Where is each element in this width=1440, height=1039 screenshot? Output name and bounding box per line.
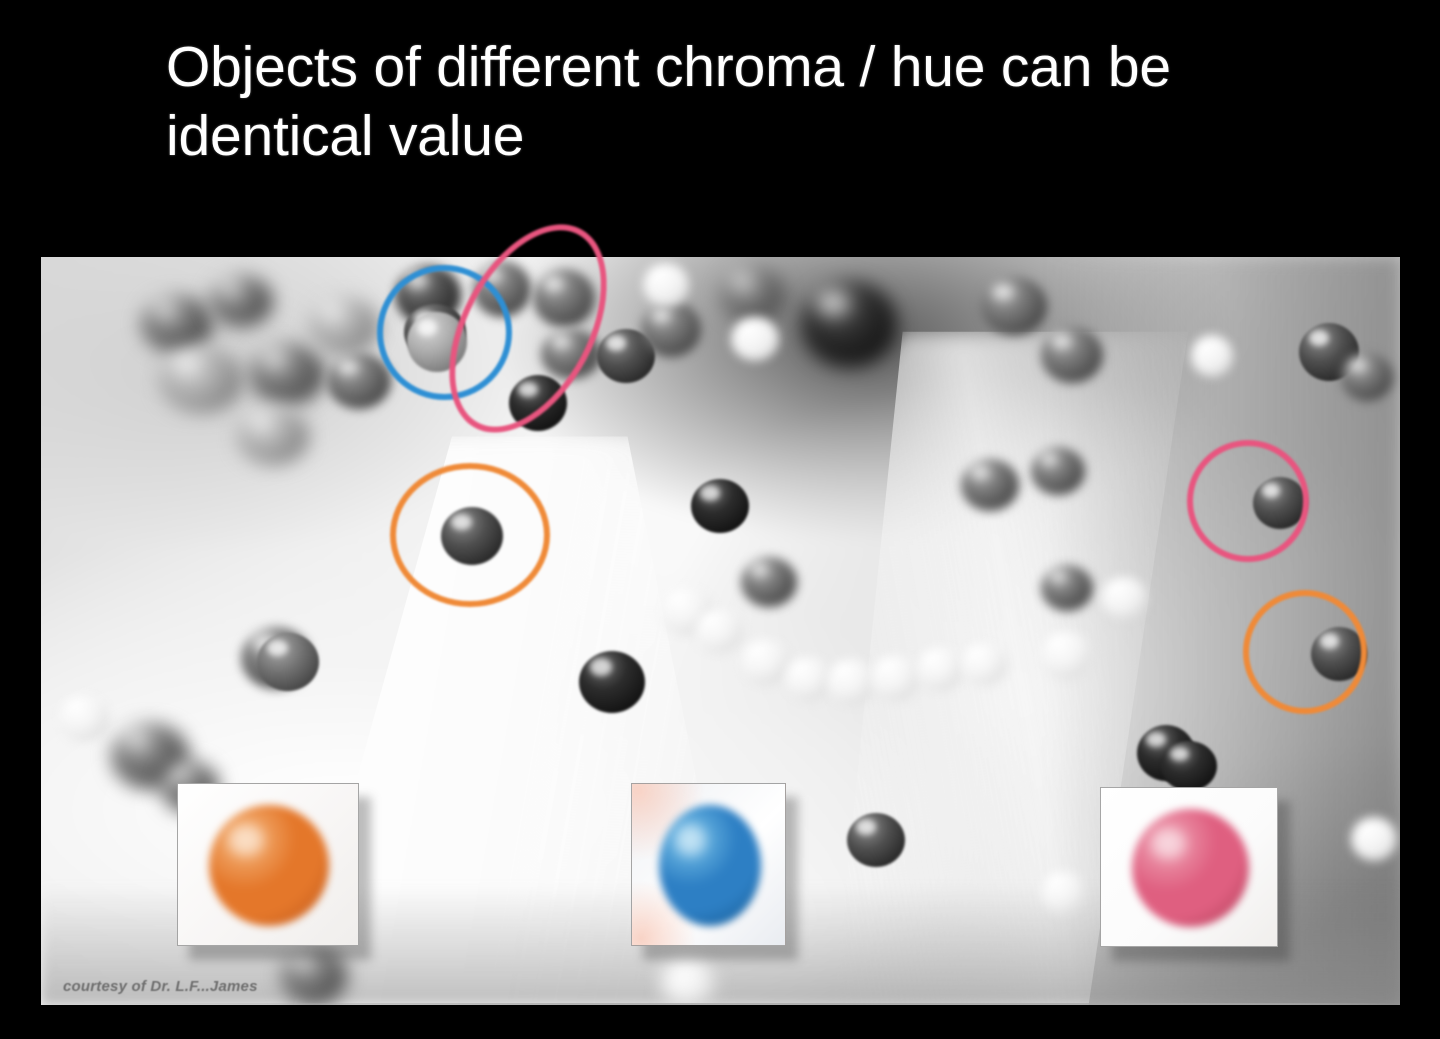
sphere bbox=[1351, 817, 1397, 861]
sphere bbox=[1041, 871, 1085, 915]
swatch-sphere-highlight bbox=[228, 824, 264, 855]
swatch-sphere-pink bbox=[1132, 809, 1249, 927]
orange-swatch bbox=[177, 783, 359, 946]
sphere bbox=[209, 275, 273, 327]
sphere bbox=[327, 353, 391, 409]
sphere bbox=[1341, 353, 1393, 401]
sphere bbox=[801, 281, 897, 367]
sphere bbox=[961, 643, 1007, 685]
sphere bbox=[1161, 741, 1217, 791]
sphere bbox=[237, 407, 309, 465]
pink-circle-right bbox=[1187, 440, 1309, 562]
sphere bbox=[827, 659, 875, 705]
sphere bbox=[309, 297, 379, 355]
sphere bbox=[661, 957, 715, 1005]
swatch-sphere-orange bbox=[209, 805, 329, 926]
blue-swatch bbox=[631, 783, 786, 946]
sphere bbox=[141, 295, 213, 353]
sphere bbox=[257, 633, 319, 691]
sphere bbox=[981, 277, 1047, 335]
sphere bbox=[847, 813, 905, 867]
sphere bbox=[721, 267, 785, 323]
sphere bbox=[917, 647, 963, 691]
sphere bbox=[1191, 335, 1233, 377]
sphere bbox=[785, 657, 831, 701]
sphere bbox=[1041, 565, 1093, 611]
sphere bbox=[641, 301, 701, 357]
sphere bbox=[643, 263, 689, 307]
sphere bbox=[961, 459, 1019, 511]
orange-circle-right bbox=[1243, 590, 1367, 714]
swatch-card-plate bbox=[177, 783, 359, 946]
sphere bbox=[741, 639, 789, 685]
pink-swatch bbox=[1100, 787, 1278, 947]
sphere bbox=[1041, 631, 1091, 679]
sphere bbox=[871, 655, 919, 701]
sphere bbox=[731, 317, 779, 361]
sphere bbox=[695, 609, 743, 653]
swatch-sphere-highlight bbox=[1151, 828, 1186, 859]
swatch-sphere-blue bbox=[659, 805, 761, 926]
swatch-card-plate bbox=[1100, 787, 1278, 947]
orange-circle-left bbox=[390, 463, 550, 607]
sphere bbox=[579, 651, 645, 713]
sphere bbox=[741, 557, 797, 607]
swatch-card-plate bbox=[631, 783, 786, 946]
sphere bbox=[159, 347, 243, 413]
sphere bbox=[249, 343, 325, 405]
sphere bbox=[59, 695, 109, 741]
page-title: Objects of different chroma / hue can be… bbox=[166, 33, 1326, 171]
sphere bbox=[691, 479, 749, 533]
sphere bbox=[1031, 447, 1085, 495]
sphere bbox=[1101, 577, 1147, 619]
swatch-sphere-highlight bbox=[675, 824, 706, 855]
photo-credit: courtesy of Dr. L.F...James bbox=[63, 978, 258, 995]
sphere bbox=[1041, 327, 1103, 383]
photo-bottom-edge-tint bbox=[41, 1003, 1400, 1005]
